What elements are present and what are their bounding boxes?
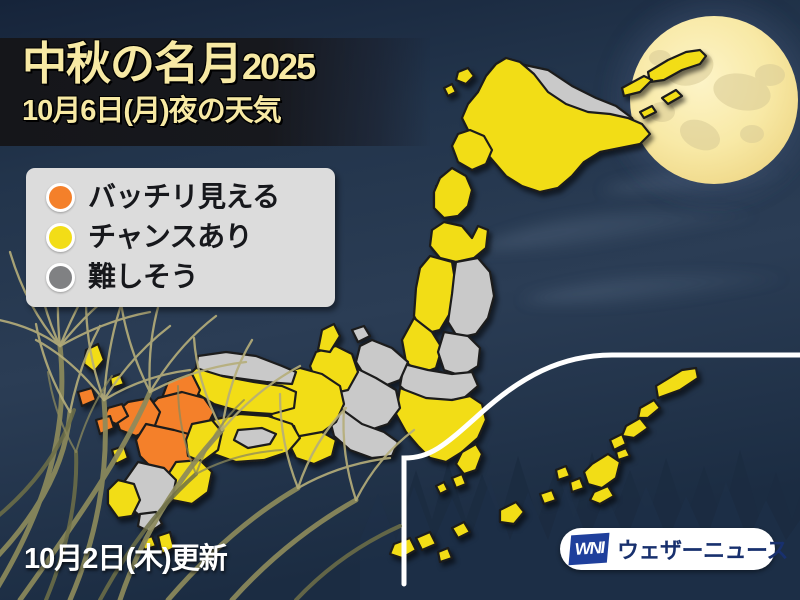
page-subtitle: 10月6日(月)夜の天気 (22, 97, 281, 126)
weathernews-logo-text: ウェザーニュース (617, 533, 788, 565)
infographic-canvas: 中秋の名月2025 10月6日(月)夜の天気 バッチリ見える チャンスあり 難し… (0, 0, 800, 600)
legend-swatch-orange (46, 183, 75, 212)
legend-panel: バッチリ見える チャンスあり 難しそう (26, 168, 335, 307)
legend-label-difficult: 難しそう (88, 263, 198, 291)
legend-item-chance[interactable]: チャンスあり (26, 217, 335, 257)
wni-badge-text: WNI (574, 538, 604, 560)
legend-swatch-yellow (46, 223, 75, 252)
legend-label-chance: チャンスあり (88, 223, 252, 251)
update-timestamp: 10月2日(木)更新 (24, 535, 227, 577)
map-region-izu-islands-a (452, 474, 466, 488)
weathernews-logo[interactable]: WNI ウェザーニュース (560, 528, 775, 570)
legend-item-difficult[interactable]: 難しそう (26, 257, 335, 297)
legend-swatch-gray (46, 263, 75, 292)
legend-item-clearly-visible[interactable]: バッチリ見える (26, 177, 335, 217)
page-title-year: 2025 (242, 46, 314, 87)
legend-label-clearly-visible: バッチリ見える (88, 183, 280, 211)
page-title: 中秋の名月2025 (22, 41, 314, 86)
page-title-text: 中秋の名月 (22, 38, 242, 89)
wni-badge-icon: WNI (569, 533, 610, 566)
